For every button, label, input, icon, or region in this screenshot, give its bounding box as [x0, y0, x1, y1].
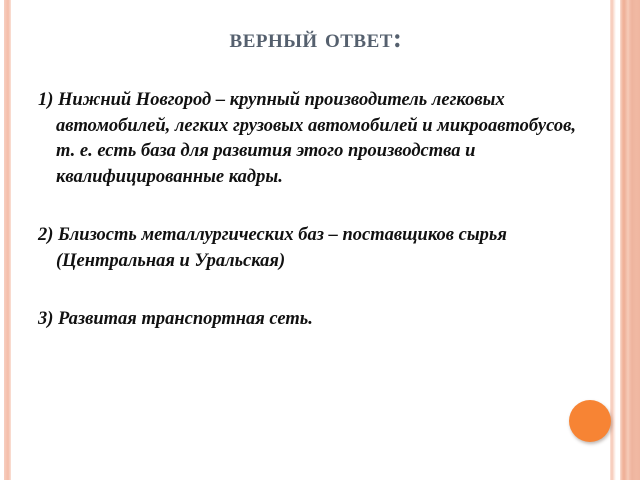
- slide-canvas: Верный ответ: 1) Нижний Новгород – крупн…: [0, 0, 640, 480]
- bullet-point-3: 3) Развитая транспортная сеть.: [38, 307, 596, 333]
- left-edge-stripe: [4, 0, 11, 480]
- orange-circle-decoration: [569, 400, 611, 442]
- slide-body: 1) Нижний Новгород – крупный производите…: [38, 88, 578, 333]
- right-edge-stripe-band: [607, 0, 640, 480]
- bullet-point-2: 2) Близость металлургических баз – поста…: [38, 223, 596, 274]
- slide-title: Верный ответ:: [40, 24, 592, 54]
- bullet-point-1: 1) Нижний Новгород – крупный производите…: [38, 88, 586, 190]
